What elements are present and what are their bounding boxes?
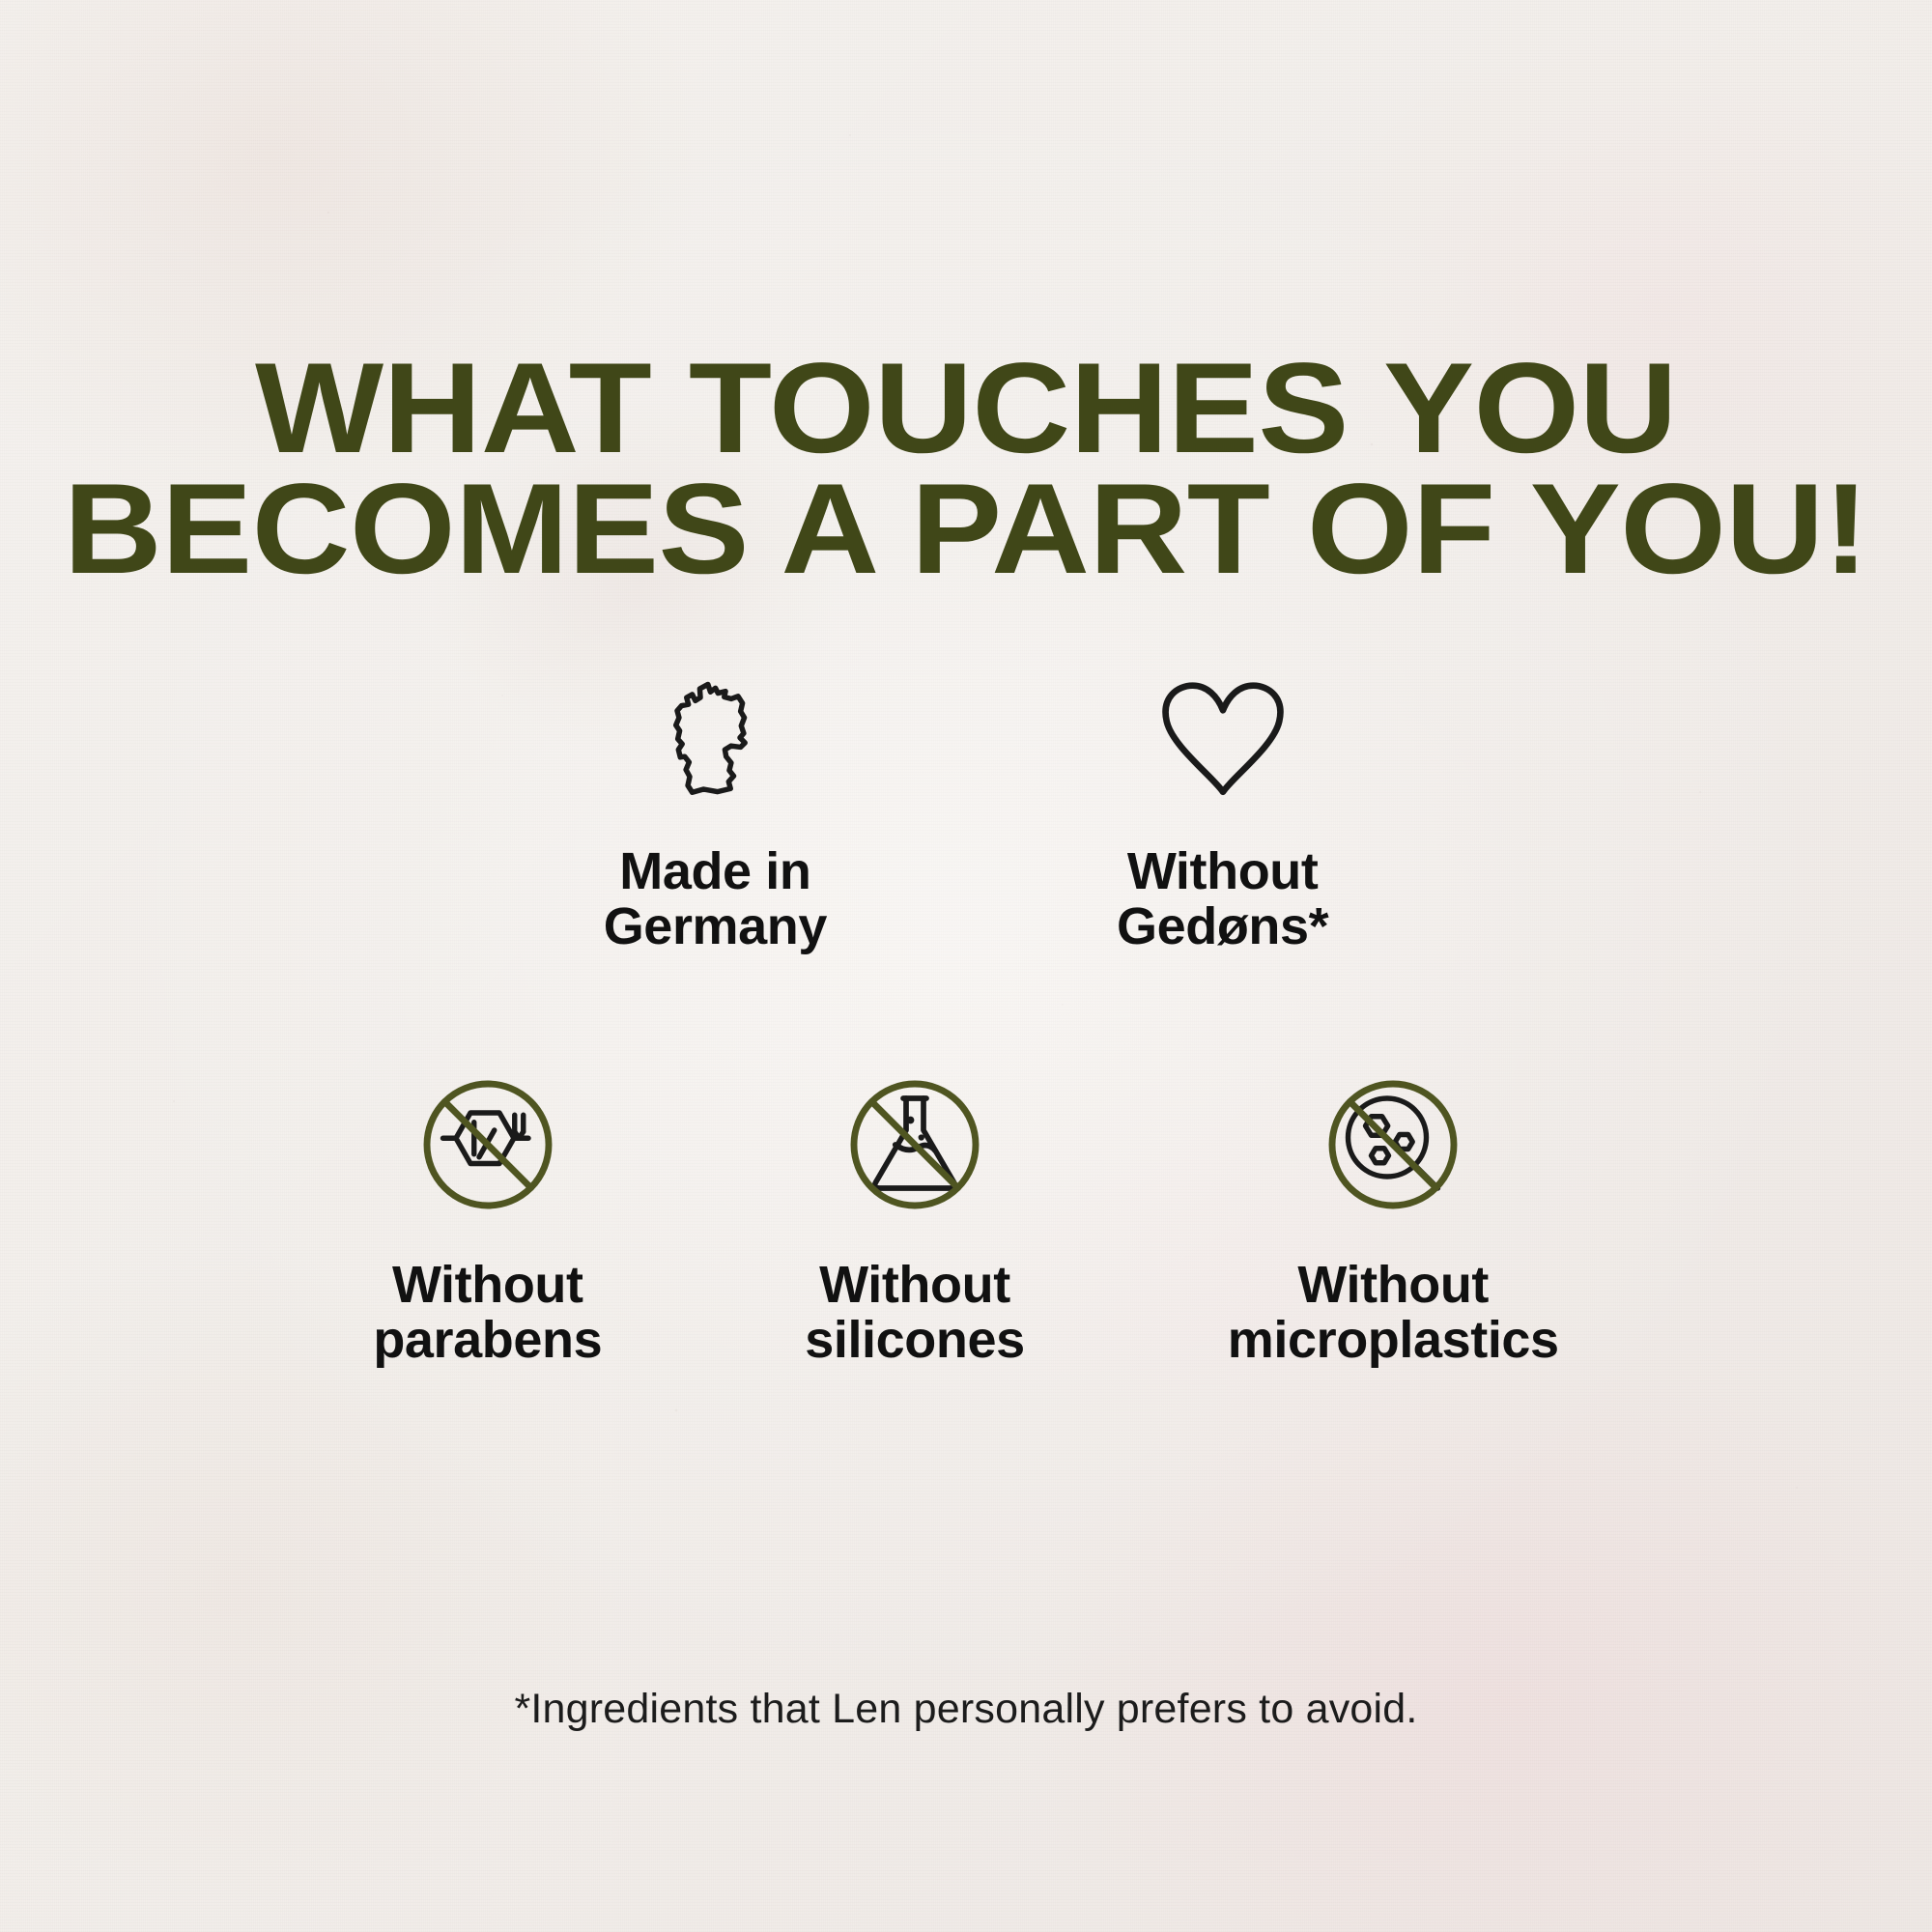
- poster-canvas: WHAT TOUCHES YOU BECOMES A PART OF YOU! …: [0, 0, 1932, 1932]
- badge-without-silicones: Without silicones: [805, 1072, 1025, 1368]
- badge-label: Without parabens: [373, 1258, 602, 1368]
- badge-label: Without silicones: [805, 1258, 1025, 1368]
- heart-icon: [1154, 676, 1292, 802]
- badge-made-in-germany: Made in Germany: [604, 676, 827, 954]
- badge-label: Without Gedøns*: [1117, 844, 1328, 954]
- no-parabens-icon: [415, 1072, 560, 1217]
- badge-without-parabens: Without parabens: [373, 1072, 602, 1368]
- no-microplastics-icon: [1321, 1072, 1465, 1217]
- badge-row-top: Made in Germany Without Gedøns*: [0, 676, 1932, 954]
- headline-line-1: WHAT TOUCHES YOU: [0, 349, 1932, 469]
- poster-content: WHAT TOUCHES YOU BECOMES A PART OF YOU! …: [0, 0, 1932, 1932]
- headline-line-2: BECOMES A PART OF YOU!: [0, 469, 1932, 590]
- badge-label: Made in Germany: [604, 844, 827, 954]
- germany-map-icon: [652, 676, 778, 802]
- badge-row-bottom: Without parabens: [0, 1072, 1932, 1368]
- badge-without-gedons: Without Gedøns*: [1117, 676, 1328, 954]
- badge-without-microplastics: Without microplastics: [1228, 1072, 1559, 1368]
- page-title: WHAT TOUCHES YOU BECOMES A PART OF YOU!: [0, 349, 1932, 590]
- no-silicones-icon: [842, 1072, 987, 1217]
- footnote-text: *Ingredients that Len personally prefers…: [0, 1686, 1932, 1733]
- badge-label: Without microplastics: [1228, 1258, 1559, 1368]
